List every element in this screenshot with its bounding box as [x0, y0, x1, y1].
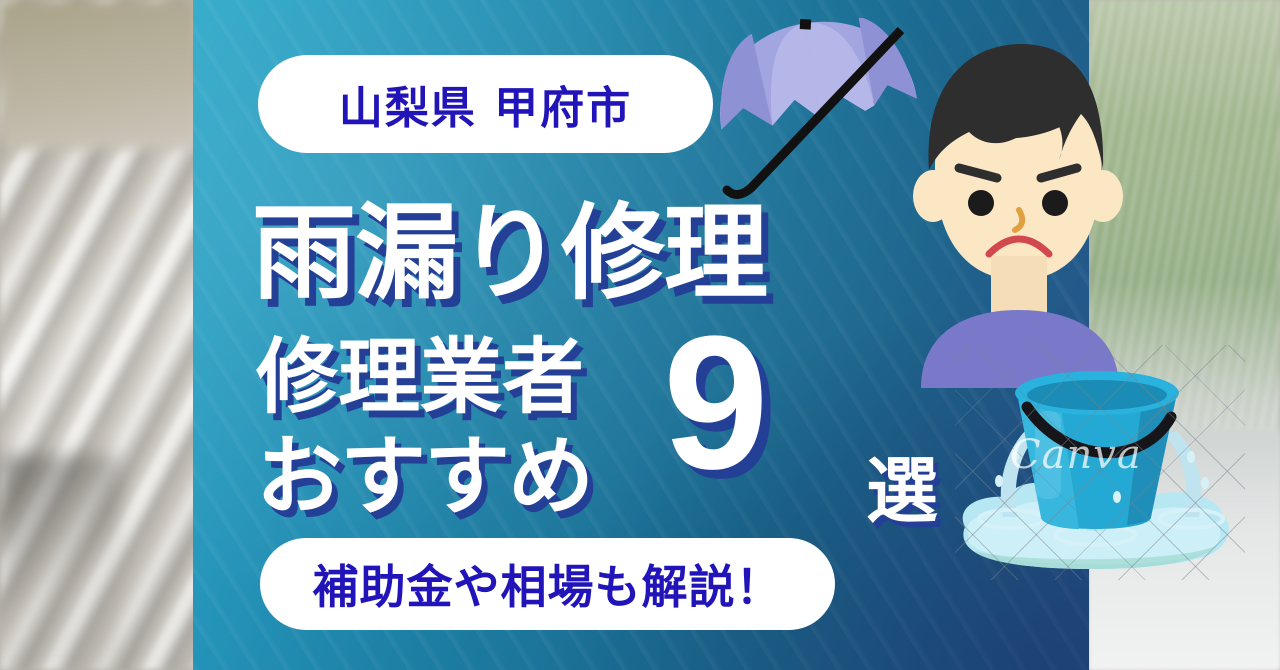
region-badge: 山梨県 甲府市: [258, 55, 713, 153]
footer-badge: 補助金や相場も解説！: [260, 538, 835, 630]
blurred-roof-tiles-photo-shadow: [0, 455, 120, 670]
blurred-roof-tiles-photo-top: [0, 0, 200, 150]
leaking-bucket-illustration: [955, 345, 1245, 580]
footer-badge-label: 補助金や相場も解説！: [313, 551, 783, 617]
headline-count: 9: [663, 308, 769, 498]
headline-sub-2: おすすめ: [256, 406, 592, 531]
region-badge-label: 山梨県 甲府市: [339, 72, 632, 136]
headline-count-suffix: 選: [866, 432, 938, 537]
worried-man-illustration: [905, 28, 1145, 388]
thumbnail-canvas: Canva 山梨県 甲府市 雨漏り修理 修理業者 おすすめ 9 選 補助金や相場…: [0, 0, 1280, 670]
